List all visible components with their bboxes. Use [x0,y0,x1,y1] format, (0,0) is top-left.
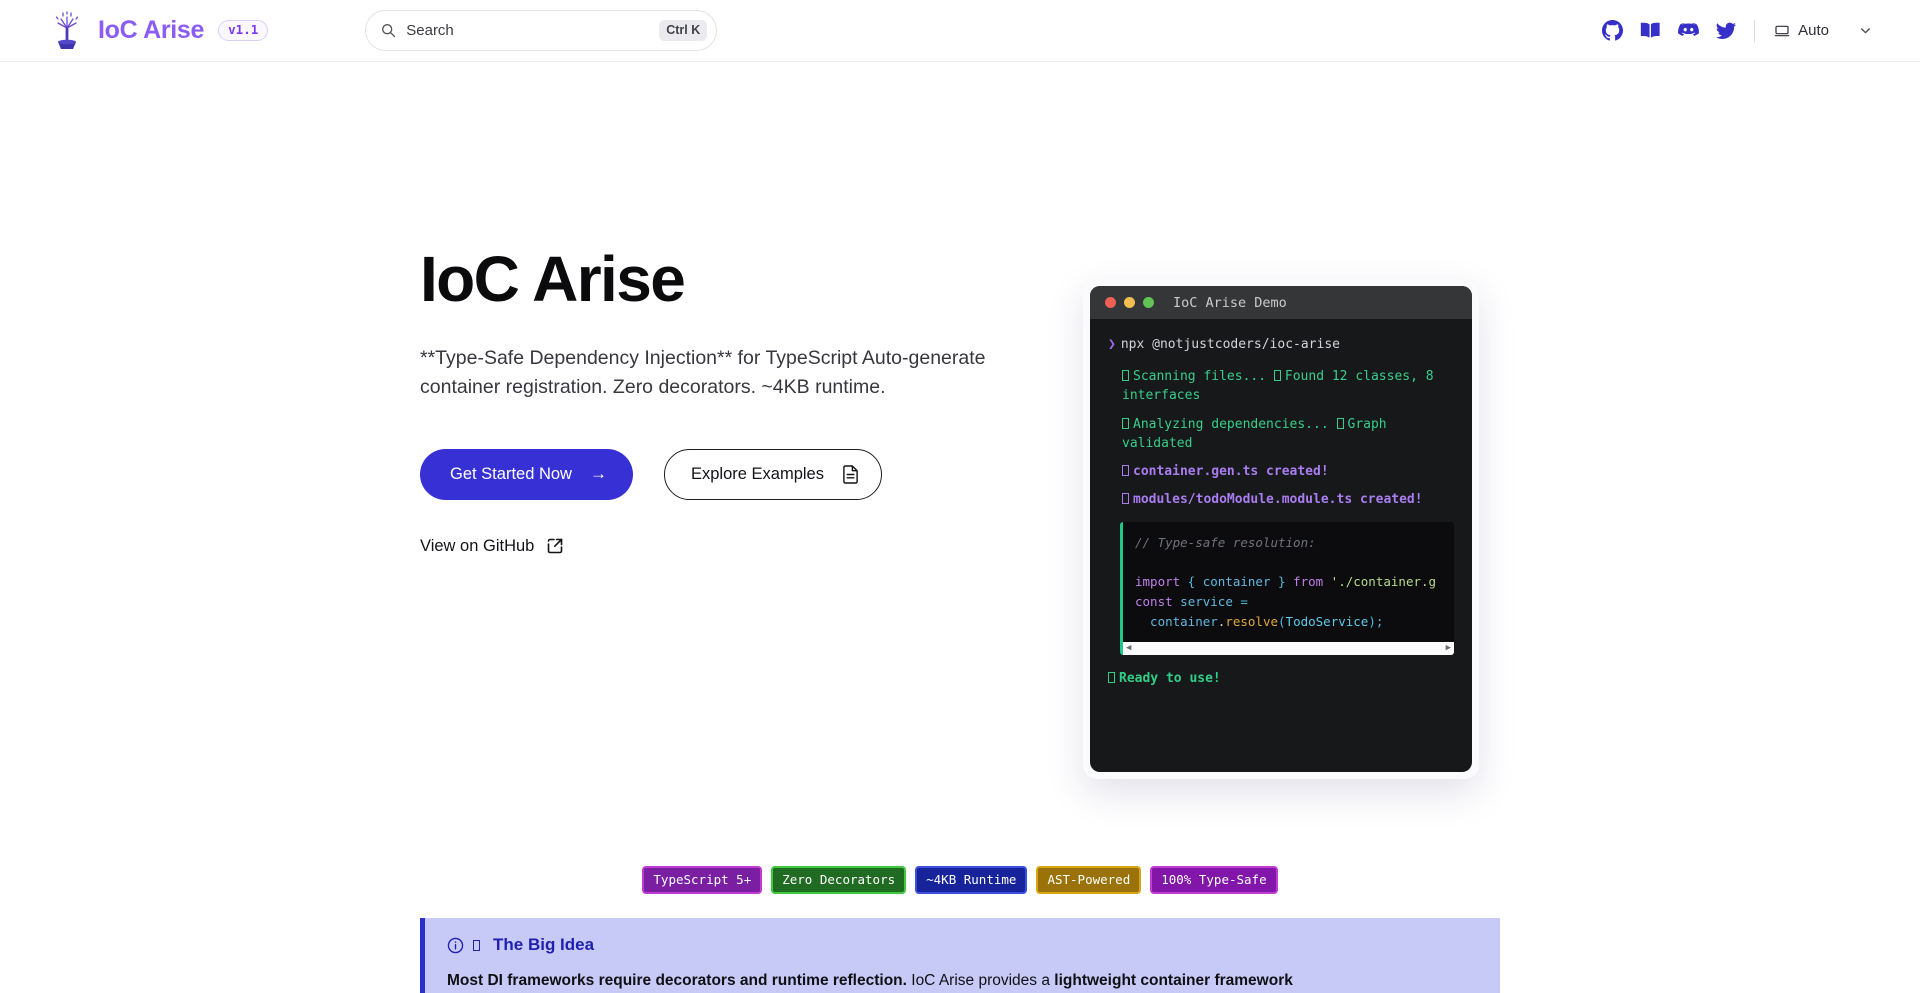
terminal-maximize-dot[interactable] [1143,297,1154,308]
badge-zero-decorators: Zero Decorators [771,866,906,894]
terminal-output-line: container.gen.ts created! [1108,462,1454,481]
brand-name: IoC Arise [98,16,204,45]
terminal-line-text: Scanning files... [1133,369,1274,384]
terminal-line-text: Analyzing dependencies... [1133,417,1337,432]
terminal-close-dot[interactable] [1105,297,1116,308]
header-divider [1754,20,1755,42]
theme-selector[interactable]: Auto [1768,16,1876,45]
badge-runtime-size: ~4KB Runtime [915,866,1027,894]
missing-glyph-icon [1122,370,1129,381]
badge-typescript: TypeScript 5+ [642,866,762,894]
hero-section: IoC Arise **Type-Safe Dependency Injecti… [0,62,1920,556]
code-resolve-close: ); [1368,614,1383,629]
hero-subtitle: **Type-Safe Dependency Injection** for T… [420,344,998,403]
callout-body-normal: IoC Arise provides a [907,972,1054,989]
terminal-command-line: ❯npx @notjustcoders/ioc-arise [1108,335,1454,354]
external-link-icon [547,538,563,554]
arrow-right-icon: → [590,464,607,484]
cta-row: Get Started Now → Explore Examples [420,449,1180,500]
terminal-output-line: Analyzing dependencies... Graph validate… [1108,415,1454,453]
missing-glyph-icon [473,940,480,951]
scroll-left-arrow-icon[interactable]: ◀ [1126,644,1131,653]
terminal-minimize-dot[interactable] [1124,297,1135,308]
code-import-kw: import [1135,574,1180,589]
code-const-kw: const [1135,594,1173,609]
terminal-window: IoC Arise Demo ❯npx @notjustcoders/ioc-a… [1090,286,1472,772]
missing-glyph-icon [1122,493,1129,504]
code-import-close: } [1270,574,1293,589]
terminal-output-line: modules/todoModule.module.ts created! [1108,490,1454,509]
code-import-path: './container.g [1323,574,1436,589]
document-icon [842,465,859,484]
callout-title: The Big Idea [493,935,594,955]
terminal-title: IoC Arise Demo [1173,295,1287,311]
view-on-github-link[interactable]: View on GitHub [420,537,563,556]
hero-content: IoC Arise **Type-Safe Dependency Injecti… [420,182,1180,556]
code-import-open: { [1180,574,1203,589]
callout-body-bold-2: lightweight container framework [1054,972,1293,989]
code-horizontal-scrollbar[interactable]: ◀ ▶ [1123,642,1454,655]
search-icon [381,23,396,38]
badge-type-safe: 100% Type-Safe [1150,866,1277,894]
twitter-icon[interactable] [1707,12,1745,50]
code-comment: // Type-safe resolution: [1135,535,1316,550]
site-header: IoC Arise v1.1 Search Ctrl K [0,0,1920,62]
code-content: // Type-safe resolution: import { contai… [1123,533,1454,643]
brand[interactable]: IoC Arise v1.1 [24,11,268,51]
missing-glyph-icon [1108,672,1115,683]
github-icon[interactable] [1593,12,1631,50]
get-started-button[interactable]: Get Started Now → [420,449,633,500]
book-icon[interactable] [1631,12,1669,50]
code-const-name: service [1173,594,1241,609]
explore-examples-label: Explore Examples [691,465,824,484]
search-shortcut-kbd: Ctrl K [659,20,707,41]
missing-glyph-icon [1122,465,1129,476]
terminal-footer-line: Ready to use! [1108,669,1454,688]
terminal-line-text: modules/todoModule.module.ts created! [1133,492,1423,507]
code-const-eq: = [1240,594,1248,609]
terminal-command: npx @notjustcoders/ioc-arise [1121,337,1340,352]
header-actions: Auto [1593,12,1896,50]
callout-body: Most DI frameworks require decorators an… [447,970,1476,992]
chevron-down-icon [1859,24,1872,37]
terminal-line-text: container.gen.ts created! [1133,464,1329,479]
terminal-output-line: Scanning files... Found 12 classes, 8 in… [1108,367,1454,405]
missing-glyph-icon [1122,418,1129,429]
badge-ast-powered: AST-Powered [1036,866,1141,894]
terminal-titlebar: IoC Arise Demo [1090,286,1472,319]
scrollbar-track[interactable] [1135,645,1441,652]
code-import-name: container [1203,574,1271,589]
code-resolve-obj: container [1135,614,1218,629]
discord-icon[interactable] [1669,12,1707,50]
missing-glyph-icon [1274,370,1281,381]
terminal-body: ❯npx @notjustcoders/ioc-arise Scanning f… [1090,319,1472,772]
sparkler-icon [50,11,84,51]
get-started-label: Get Started Now [450,465,572,484]
view-on-github-label: View on GitHub [420,537,534,556]
monitor-icon [1774,23,1790,39]
info-icon [447,937,464,954]
prompt-symbol: ❯ [1108,337,1116,352]
page-title: IoC Arise [420,245,1180,314]
version-badge: v1.1 [218,20,268,41]
code-resolve-fn: resolve [1225,614,1278,629]
feature-badges: TypeScript 5+ Zero Decorators ~4KB Runti… [0,866,1920,894]
scroll-right-arrow-icon[interactable]: ▶ [1446,644,1451,653]
terminal-code-block: // Type-safe resolution: import { contai… [1120,522,1454,656]
code-resolve-open: ( [1278,614,1286,629]
theme-label: Auto [1798,22,1829,39]
search-placeholder: Search [406,22,649,39]
search-wrap: Search Ctrl K [365,10,717,51]
code-import-from: from [1293,574,1323,589]
terminal-demo: IoC Arise Demo ❯npx @notjustcoders/ioc-a… [1083,279,1479,779]
explore-examples-button[interactable]: Explore Examples [664,449,882,500]
search-input[interactable]: Search Ctrl K [365,10,717,51]
callout-body-bold-1: Most DI frameworks require decorators an… [447,972,907,989]
terminal-footer-text: Ready to use! [1119,671,1221,686]
callout-header: The Big Idea [447,935,1476,955]
missing-glyph-icon [1337,418,1344,429]
big-idea-callout: The Big Idea Most DI frameworks require … [420,918,1500,993]
code-resolve-type: TodoService [1286,614,1369,629]
